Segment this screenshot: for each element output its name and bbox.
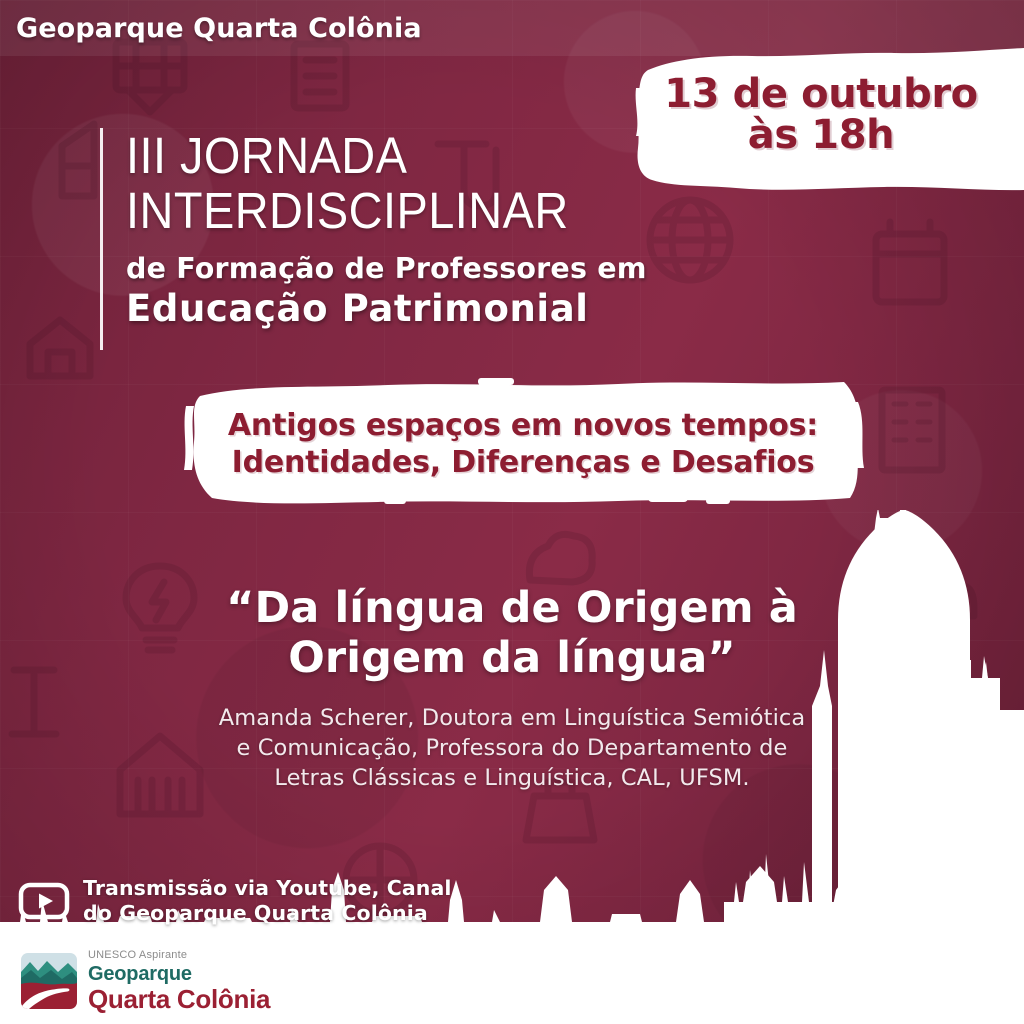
footer-bar: UNESCO Aspirante Geoparque Quarta Colôni…: [0, 940, 1024, 1024]
broadcast-line-1: Transmissão via Youtube, Canal: [83, 876, 452, 901]
broadcast-info: Transmissão via Youtube, Canal do Geopar…: [18, 876, 452, 927]
theme-banner-text: Antigos espaços em novos tempos: Identid…: [204, 408, 842, 481]
title-vertical-rule: [100, 128, 103, 350]
speaker-credentials: Amanda Scherer, Doutora em Linguística S…: [150, 704, 874, 794]
geopark-logo-text: UNESCO Aspirante Geoparque Quarta Colôni…: [88, 950, 270, 1012]
youtube-play-icon[interactable]: [18, 882, 70, 920]
title-line-3: de Formação de Professores em: [126, 252, 866, 285]
theme-banner: Antigos espaços em novos tempos: Identid…: [178, 372, 868, 514]
speaker-line-1: Amanda Scherer, Doutora em Linguística S…: [150, 704, 874, 734]
title-line-2: INTERDISCIPLINAR: [126, 183, 807, 238]
event-title-block: III JORNADA INTERDISCIPLINAR de Formação…: [100, 128, 866, 330]
lecture-line-2: Origem da língua”: [132, 633, 892, 683]
geopark-logo[interactable]: UNESCO Aspirante Geoparque Quarta Colôni…: [20, 950, 270, 1012]
title-line-1: III JORNADA: [126, 128, 807, 183]
logo-unesco-label: UNESCO Aspirante: [88, 950, 270, 961]
broadcast-line-2: do Geoparque Quarta Colônia: [83, 901, 452, 926]
broadcast-text: Transmissão via Youtube, Canal do Geopar…: [83, 876, 452, 927]
page-title: Geoparque Quarta Colônia: [16, 13, 422, 44]
title-line-4: Educação Patrimonial: [126, 287, 866, 330]
theme-line-2: Identidades, Diferenças e Desafios: [204, 445, 842, 482]
poster-canvas: Geoparque Quarta Colônia 13 de outubro à…: [0, 0, 1024, 1024]
geopark-mountain-river-icon: [20, 952, 78, 1010]
theme-line-1: Antigos espaços em novos tempos:: [228, 408, 818, 443]
lecture-line-1: “Da língua de Origem à: [226, 583, 798, 633]
lecture-title: “Da língua de Origem à Origem da língua”: [132, 583, 892, 684]
speaker-line-3: Letras Clássicas e Linguística, CAL, UFS…: [150, 764, 874, 794]
speaker-line-2: e Comunicação, Professora do Departament…: [150, 734, 874, 764]
date-line-1: 13 de outubro: [632, 74, 1010, 115]
logo-geoparque-label: Geoparque: [88, 964, 270, 984]
logo-quarta-colonia-label: Quarta Colônia: [88, 986, 270, 1012]
